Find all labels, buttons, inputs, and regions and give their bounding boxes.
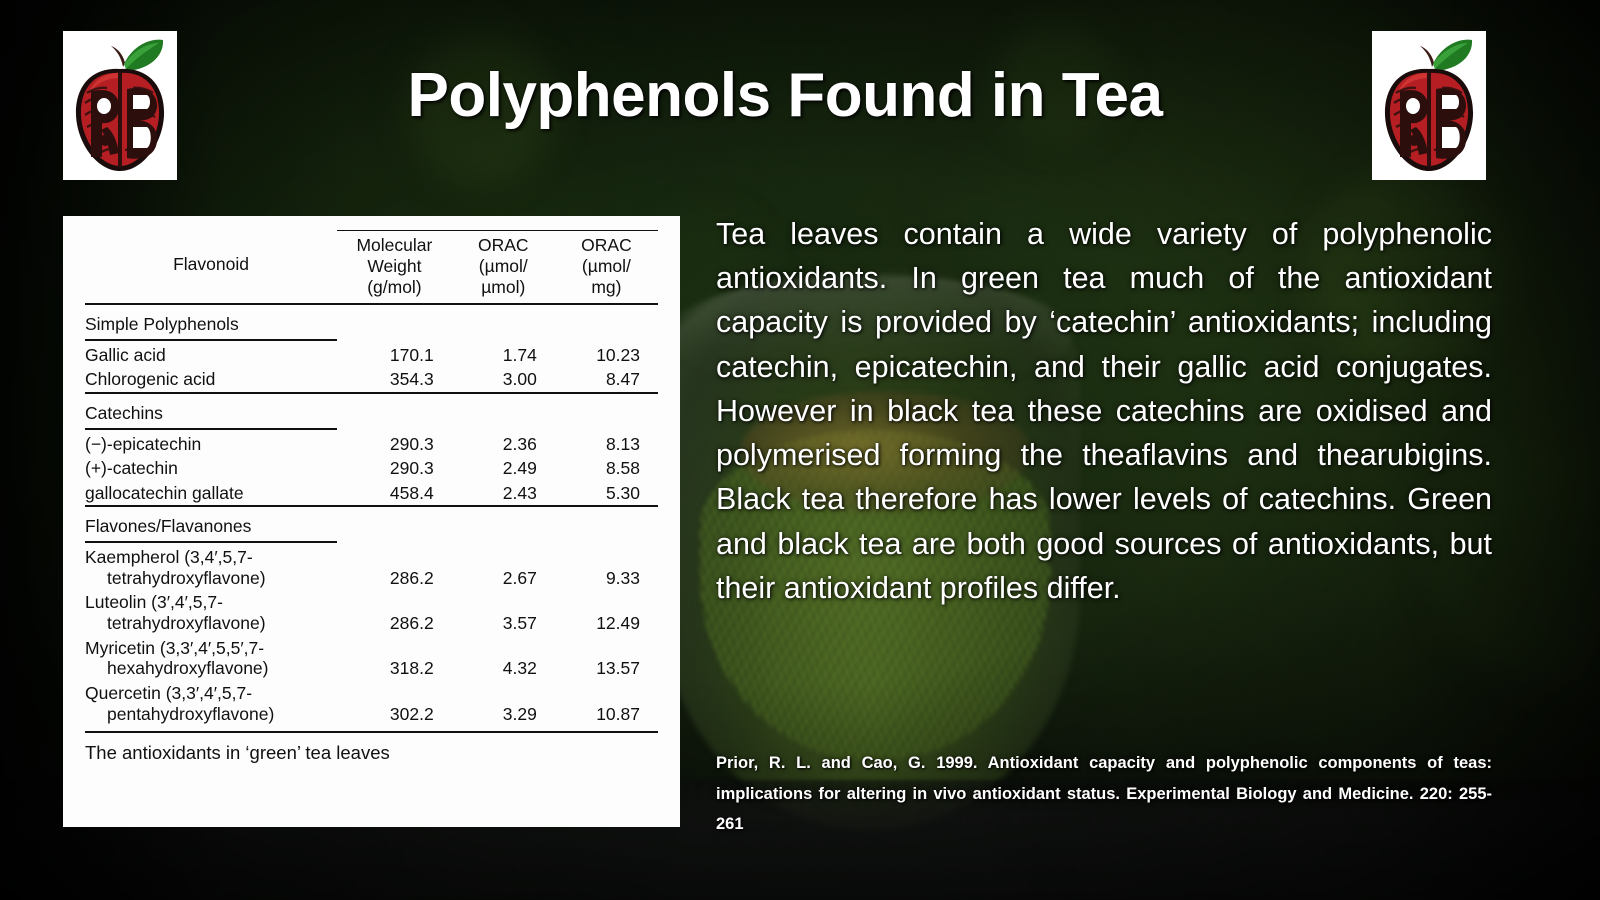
orac-umol-per-umol-value: 1.74 [452,343,555,368]
flavonoid-table: Flavonoid Molecular Weight (g/mol) ORAC … [85,230,658,726]
flavonoid-name: gallocatechin gallate [85,481,337,507]
orac-umol-per-umol-value: 3.29 [452,681,555,726]
orac-umol-per-umol-value: 2.43 [452,481,555,507]
column-header-orac-umol-per-umol: ORAC (µmol/ µmol) [452,231,555,305]
orac-umol-per-umol-value: 2.49 [452,456,555,481]
section-label-row: Flavones/Flavanones [85,509,658,542]
table-row: Quercetin (3,3′,4′,5,7-pentahydroxyflavo… [85,681,658,726]
apple-icon [1372,31,1486,180]
flavonoid-name: (−)-epicatechin [85,432,337,457]
flavonoid-name: (+)-catechin [85,456,337,481]
flavonoid-name: Kaempherol (3,4′,5,7-tetrahydroxyflavone… [85,545,337,590]
section-label-row: Simple Polyphenols [85,307,658,340]
orac-umol-per-umol-value: 3.00 [452,367,555,393]
citation-block: Prior, R. L. and Cao, G. 1999. Antioxida… [716,748,1492,840]
orac-umol-per-mg-value: 9.33 [555,545,658,590]
molecular-weight-value: 302.2 [337,681,452,726]
table-row: gallocatechin gallate458.42.435.30 [85,481,658,507]
flavonoid-name: Luteolin (3′,4′,5,7-tetrahydroxyflavone) [85,590,337,635]
flavonoid-name: Quercetin (3,3′,4′,5,7-pentahydroxyflavo… [85,681,337,726]
slide: Polyphenols Found in Tea Flavonoid Molec… [0,0,1600,900]
orac-umol-per-mg-value: 13.57 [555,636,658,681]
flavonoid-table-panel: Flavonoid Molecular Weight (g/mol) ORAC … [63,216,680,827]
apple-icon [63,31,177,180]
rb-apple-logo-right [1372,31,1486,180]
flavonoid-name: Chlorogenic acid [85,367,337,393]
molecular-weight-value: 354.3 [337,367,452,393]
flavonoid-name: Myricetin (3,3′,4′,5,5′,7-hexahydroxyfla… [85,636,337,681]
table-caption: The antioxidants in ‘green’ tea leaves [85,733,658,764]
table-row: Chlorogenic acid354.33.008.47 [85,367,658,393]
table-row: Luteolin (3′,4′,5,7-tetrahydroxyflavone)… [85,590,658,635]
column-header-molecular-weight: Molecular Weight (g/mol) [337,231,452,305]
orac-umol-per-mg-value: 10.23 [555,343,658,368]
molecular-weight-value: 458.4 [337,481,452,507]
orac-umol-per-umol-value: 2.36 [452,432,555,457]
body-paragraph: Tea leaves contain a wide variety of pol… [716,212,1492,610]
table-row: Gallic acid170.11.7410.23 [85,343,658,368]
section-label: Catechins [85,396,658,429]
orac-umol-per-mg-value: 8.58 [555,456,658,481]
column-header-flavonoid: Flavonoid [85,231,337,305]
molecular-weight-value: 318.2 [337,636,452,681]
molecular-weight-value: 170.1 [337,343,452,368]
table-row: Kaempherol (3,4′,5,7-tetrahydroxyflavone… [85,545,658,590]
orac-umol-per-mg-value: 8.47 [555,367,658,393]
table-row: (+)-catechin290.32.498.58 [85,456,658,481]
orac-umol-per-umol-value: 3.57 [452,590,555,635]
section-label-row: Catechins [85,396,658,429]
orac-umol-per-mg-value: 8.13 [555,432,658,457]
orac-umol-per-mg-value: 10.87 [555,681,658,726]
table-row: Myricetin (3,3′,4′,5,5′,7-hexahydroxyfla… [85,636,658,681]
molecular-weight-value: 286.2 [337,590,452,635]
column-header-orac-umol-per-mg: ORAC (µmol/ mg) [555,231,658,305]
orac-umol-per-mg-value: 5.30 [555,481,658,507]
molecular-weight-value: 286.2 [337,545,452,590]
flavonoid-table-body: Simple PolyphenolsGallic acid170.11.7410… [85,304,658,726]
orac-umol-per-umol-value: 2.67 [452,545,555,590]
section-label: Flavones/Flavanones [85,509,658,542]
orac-umol-per-umol-value: 4.32 [452,636,555,681]
flavonoid-name: Gallic acid [85,343,337,368]
table-row: (−)-epicatechin290.32.368.13 [85,432,658,457]
orac-umol-per-mg-value: 12.49 [555,590,658,635]
table-header-row: Flavonoid Molecular Weight (g/mol) ORAC … [85,231,658,305]
molecular-weight-value: 290.3 [337,432,452,457]
molecular-weight-value: 290.3 [337,456,452,481]
slide-title: Polyphenols Found in Tea [200,60,1370,131]
section-label: Simple Polyphenols [85,307,658,340]
rb-apple-logo-left [63,31,177,180]
